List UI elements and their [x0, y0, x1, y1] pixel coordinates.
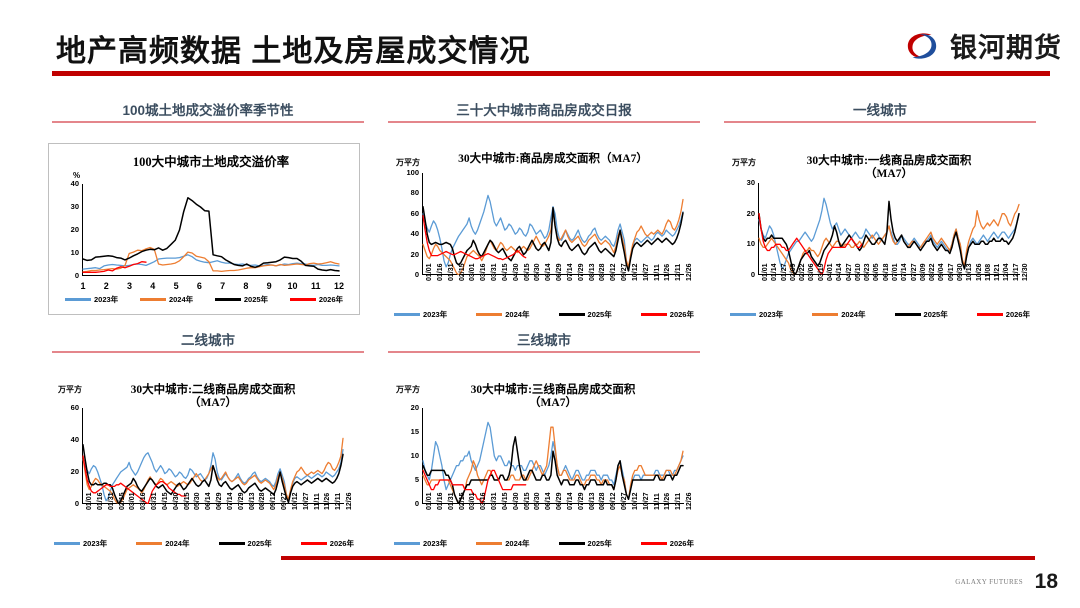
legend-item-2023年[interactable]: 2023年: [730, 309, 783, 320]
chart-title: 30大中城市:三线商品房成交面积（MA7）: [422, 384, 684, 410]
x-axis-tick: 04/15: [162, 492, 169, 510]
x-axis-tick: 11/11: [314, 493, 321, 510]
x-axis-tick: 12/26: [686, 263, 693, 281]
legend-item-2024年[interactable]: 2024年: [812, 309, 865, 320]
legend-label: 2025年: [588, 538, 612, 549]
brand-logo: 银河期货: [903, 26, 1062, 65]
x-axis-tick: 01/01: [426, 263, 433, 281]
x-axis-tick: 09/17: [948, 263, 955, 281]
x-axis-tick: 10/26: [976, 263, 983, 281]
x-axis-tick: 03/16: [140, 492, 147, 510]
legend-label: 2025年: [588, 309, 612, 320]
footer-divider: [281, 556, 1035, 560]
legend-label: 2024年: [505, 538, 529, 549]
legend-label: 2026年: [670, 309, 694, 320]
x-axis-tick: 01/27: [781, 263, 788, 281]
y-axis-tick: 100: [397, 169, 419, 177]
x-axis-tick: 3: [123, 282, 137, 291]
series-line-2024年: [83, 248, 339, 272]
chart-title: 30大中城市:一线商品房成交面积（MA7）: [758, 155, 1020, 181]
y-axis-tick: 20: [59, 226, 79, 234]
x-axis-tick: 08/13: [249, 492, 256, 510]
y-axis-tick: 20: [397, 251, 419, 259]
legend-color-swatch: [219, 542, 245, 545]
x-axis-tick: 03/01: [469, 492, 476, 510]
x-axis-tick: 11: [309, 282, 323, 291]
x-axis-tick: 02/22: [799, 263, 806, 281]
x-axis-tick: 12/26: [346, 492, 353, 510]
x-axis-tick: 03/16: [480, 492, 487, 510]
x-axis-tick: 06/05: [873, 263, 880, 281]
y-axis-tick: 0: [59, 272, 79, 280]
legend-item-2024年[interactable]: 2024年: [476, 309, 529, 320]
plot-area: [422, 173, 684, 275]
section-header-rule: [388, 121, 700, 123]
x-axis-tick: 09/27: [621, 492, 628, 510]
legend-color-swatch: [290, 298, 316, 301]
legend-item-2023年[interactable]: 2023年: [394, 309, 447, 320]
y-axis-tick: 40: [397, 230, 419, 238]
legend-label: 2023年: [94, 294, 118, 305]
x-axis-tick: 03/06: [808, 263, 815, 281]
x-axis-tick: 12: [332, 282, 346, 291]
legend-label: 2026年: [330, 538, 354, 549]
chart-legend: 2023年2024年2025年2026年: [65, 294, 343, 305]
x-axis-tick: 06/29: [556, 263, 563, 281]
x-axis-tick: 01/16: [97, 492, 104, 510]
x-axis-tick: 10/12: [292, 492, 299, 510]
x-axis-tick: 10/13: [966, 263, 973, 281]
legend-item-2026年[interactable]: 2026年: [977, 309, 1030, 320]
legend-item-2025年[interactable]: 2025年: [219, 538, 272, 549]
x-axis-tick: 05/15: [524, 492, 531, 510]
x-axis-tick: 07/29: [578, 492, 585, 510]
page-number: 18: [1035, 570, 1058, 594]
legend-color-swatch: [476, 313, 502, 315]
y-axis-tick: 5: [397, 476, 419, 484]
legend-item-2023年[interactable]: 2023年: [54, 538, 107, 549]
series-line-2026年: [423, 216, 526, 260]
x-axis-tick: 08/28: [259, 492, 266, 510]
x-axis-tick: 07/29: [578, 263, 585, 281]
chart-title: 100大中城市土地成交溢价率: [82, 156, 340, 169]
x-axis-tick: 09/27: [281, 492, 288, 510]
x-axis-tick: 7: [216, 282, 230, 291]
legend-color-swatch: [54, 542, 80, 544]
x-axis-tick: 07/14: [901, 263, 908, 281]
legend-color-swatch: [895, 313, 921, 316]
y-axis-tick: 40: [59, 180, 79, 188]
x-axis-tick: 03/31: [491, 492, 498, 510]
legend-label: 2025年: [244, 294, 268, 305]
legend-color-swatch: [136, 542, 162, 544]
x-axis-tick: 11/08: [985, 264, 992, 281]
x-axis-tick: 11/21: [994, 264, 1001, 281]
y-axis-tick: 0: [733, 271, 755, 279]
x-axis-tick: 07/14: [567, 492, 574, 510]
x-axis-tick: 08/09: [920, 263, 927, 281]
legend-item-2025年[interactable]: 2025年: [215, 294, 268, 305]
x-axis-tick: 12/11: [675, 493, 682, 510]
legend-item-2025年[interactable]: 2025年: [559, 538, 612, 549]
x-axis-tick: 09/27: [621, 263, 628, 281]
x-axis-tick: 01/31: [448, 492, 455, 510]
x-axis-tick: 11/26: [664, 264, 671, 281]
x-axis-tick: 08/22: [929, 263, 936, 281]
section-header-label: 一线城市: [724, 103, 1036, 118]
x-axis-tick: 04/15: [502, 263, 509, 281]
section-header-rule: [724, 121, 1036, 123]
x-axis-tick: 01/01: [426, 492, 433, 510]
y-axis-tick: 15: [397, 428, 419, 436]
chart-legend: 2023年2024年2025年2026年: [394, 538, 694, 549]
x-axis-tick: 07/14: [567, 263, 574, 281]
x-axis-tick: 04/27: [846, 263, 853, 281]
legend-color-swatch: [140, 298, 166, 300]
x-axis-tick: 01/31: [448, 263, 455, 281]
x-axis-tick: 05/23: [864, 263, 871, 281]
x-axis-tick: 08/28: [599, 492, 606, 510]
series-line-2025年: [83, 198, 339, 271]
legend-color-swatch: [730, 313, 756, 315]
chart-panel-second-tier-cities: 30大中城市:二线商品房成交面积（MA7）万平方020406001/0101/1…: [48, 372, 360, 552]
chart-legend: 2023年2024年2025年2026年: [394, 309, 694, 320]
chart-legend: 2023年2024年2025年2026年: [730, 309, 1030, 320]
legend-item-2025年[interactable]: 2025年: [895, 309, 948, 320]
y-axis-tick: 0: [397, 500, 419, 508]
x-axis-tick: 02/09: [790, 263, 797, 281]
x-axis-tick: 09/30: [957, 263, 964, 281]
x-axis-tick: 05/30: [194, 492, 201, 510]
x-axis-tick: 05/15: [184, 492, 191, 510]
x-axis-tick: 10/12: [632, 492, 639, 510]
x-axis-tick: 05/10: [855, 263, 862, 281]
x-axis-tick: 08/13: [589, 263, 596, 281]
x-axis-tick: 09/12: [270, 492, 277, 510]
x-axis-tick: 03/01: [129, 492, 136, 510]
x-axis-tick: 12/11: [335, 493, 342, 510]
plot-area: [422, 408, 684, 504]
legend-label: 2025年: [248, 538, 272, 549]
x-axis-tick: 09/12: [610, 492, 617, 510]
x-axis-tick: 10/27: [643, 263, 650, 281]
chart-unit-label: 万平方: [396, 157, 420, 168]
x-axis-tick: 03/01: [469, 263, 476, 281]
y-axis-tick: 20: [57, 468, 79, 476]
plot-area: [758, 183, 1020, 275]
x-axis-tick: 02/15: [119, 492, 126, 510]
section-header-thirty-cities: 三十大中城市商品房成交日报: [388, 103, 700, 123]
x-axis-tick: 01/31: [108, 492, 115, 510]
x-axis-tick: 06/14: [545, 492, 552, 510]
page-title: 地产高频数据 土地及房屋成交情况: [56, 26, 530, 70]
section-header-label: 二线城市: [52, 333, 364, 348]
legend-label: 2023年: [423, 538, 447, 549]
x-axis-tick: 10/27: [303, 492, 310, 510]
chart-unit-label: 万平方: [732, 157, 756, 168]
section-header-label: 100城土地成交溢价率季节性: [52, 103, 364, 118]
legend-item-2024年[interactable]: 2024年: [476, 538, 529, 549]
x-axis-tick: 12/17: [1013, 263, 1020, 281]
x-axis-tick: 08/28: [599, 263, 606, 281]
x-axis-tick: 8: [239, 282, 253, 291]
x-axis-tick: 03/19: [818, 263, 825, 281]
y-axis-tick: 10: [397, 452, 419, 460]
legend-label: 2026年: [1006, 309, 1030, 320]
x-axis-tick: 11/11: [654, 493, 661, 510]
x-axis-tick: 12/04: [1003, 263, 1010, 281]
legend-color-swatch: [476, 542, 502, 544]
x-axis-tick: 01/01: [762, 263, 769, 281]
section-header-premium-rate: 100城土地成交溢价率季节性: [52, 103, 364, 123]
x-axis-tick: 03/31: [151, 492, 158, 510]
legend-label: 2026年: [319, 294, 343, 305]
x-axis-tick: 07/29: [238, 492, 245, 510]
x-axis-tick: 12/26: [686, 492, 693, 510]
x-axis-tick: 06/14: [545, 263, 552, 281]
x-axis-tick: 2: [99, 282, 113, 291]
y-axis-tick: 40: [57, 436, 79, 444]
legend-label: 2023年: [83, 538, 107, 549]
chart-unit-label: 万平方: [58, 384, 82, 395]
series-line-2023年: [423, 422, 683, 499]
legend-item-2024年[interactable]: 2024年: [136, 538, 189, 549]
x-axis-tick: 06/18: [883, 263, 890, 281]
y-axis-tick: 80: [397, 189, 419, 197]
x-axis-tick: 6: [192, 282, 206, 291]
legend-label: 2024年: [505, 309, 529, 320]
x-axis-tick: 10/27: [643, 492, 650, 510]
chart-panel-thirty-cities-total: 30大中城市:商品房成交面积（MA7）万平方02040608010001/010…: [388, 143, 700, 323]
legend-color-swatch: [641, 542, 667, 545]
section-header-label: 三线城市: [388, 333, 700, 348]
legend-color-swatch: [394, 313, 420, 315]
legend-color-swatch: [559, 313, 585, 316]
plot-area: [82, 408, 344, 504]
legend-label: 2026年: [670, 538, 694, 549]
y-axis-tick: 0: [57, 500, 79, 508]
x-axis-tick: 02/15: [459, 263, 466, 281]
section-header-rule: [388, 351, 700, 353]
x-axis-tick: 09/04: [938, 263, 945, 281]
x-axis-tick: 09/12: [610, 263, 617, 281]
chart-panel-third-tier-cities: 30大中城市:三线商品房成交面积（MA7）万平方0510152001/0101/…: [388, 372, 700, 552]
x-axis-tick: 12/30: [1022, 263, 1029, 281]
chart-legend: 2023年2024年2025年2026年: [54, 538, 354, 549]
chart-unit-label: 万平方: [396, 384, 420, 395]
legend-color-swatch: [559, 542, 585, 545]
x-axis-tick: 02/15: [459, 492, 466, 510]
plot-area: [82, 184, 340, 276]
x-axis-tick: 12/11: [675, 264, 682, 281]
section-header-third-tier: 三线城市: [388, 333, 700, 353]
legend-item-2026年[interactable]: 2026年: [641, 538, 694, 549]
section-header-second-tier: 二线城市: [52, 333, 364, 353]
chart-title: 30大中城市:二线商品房成交面积（MA7）: [82, 384, 344, 410]
y-axis-tick: 0: [397, 271, 419, 279]
legend-item-2025年[interactable]: 2025年: [559, 309, 612, 320]
section-header-label: 三十大中城市商品房成交日报: [388, 103, 700, 118]
x-axis-tick: 04/15: [502, 492, 509, 510]
legend-color-swatch: [215, 298, 241, 301]
x-axis-tick: 03/16: [480, 263, 487, 281]
galaxy-swirl-logo-icon: [903, 29, 941, 63]
legend-color-swatch: [812, 313, 838, 315]
x-axis-tick: 1: [76, 282, 90, 291]
footer-brand: GALAXY FUTURES: [955, 578, 1023, 586]
x-axis-tick: 11/11: [654, 264, 661, 281]
legend-item-2026年[interactable]: 2026年: [641, 309, 694, 320]
section-header-first-tier: 一线城市: [724, 103, 1036, 123]
section-header-rule: [52, 121, 364, 123]
x-axis-tick: 07/01: [892, 263, 899, 281]
title-divider: [52, 71, 1050, 76]
y-axis-tick: 30: [733, 179, 755, 187]
legend-color-swatch: [977, 313, 1003, 316]
x-axis-tick: 04/01: [827, 263, 834, 281]
legend-label: 2024年: [169, 294, 193, 305]
x-axis-tick: 10/12: [632, 263, 639, 281]
chart-title-line2: （MA7）: [758, 168, 1020, 181]
x-axis-tick: 05/30: [534, 492, 541, 510]
x-axis-tick: 5: [169, 282, 183, 291]
x-axis-tick: 05/30: [534, 263, 541, 281]
legend-color-swatch: [301, 542, 327, 545]
x-axis-tick: 01/01: [86, 492, 93, 510]
chart-panel-premium-rate-seasonality: 100大中城市土地成交溢价率%0102030401234567891011122…: [48, 143, 360, 315]
x-axis-tick: 04/14: [836, 263, 843, 281]
legend-label: 2024年: [165, 538, 189, 549]
legend-item-2026年[interactable]: 2026年: [290, 294, 343, 305]
y-axis-tick: 30: [59, 203, 79, 211]
x-axis-tick: 9: [262, 282, 276, 291]
x-axis-tick: 04/30: [513, 492, 520, 510]
chart-title: 30大中城市:商品房成交面积（MA7）: [422, 153, 684, 166]
legend-color-swatch: [394, 542, 420, 544]
y-axis-tick: 10: [733, 240, 755, 248]
legend-color-swatch: [641, 313, 667, 316]
x-axis-tick: 03/31: [491, 263, 498, 281]
x-axis-tick: 11/26: [664, 493, 671, 510]
legend-label: 2024年: [841, 309, 865, 320]
legend-item-2023年[interactable]: 2023年: [394, 538, 447, 549]
legend-item-2024年[interactable]: 2024年: [140, 294, 193, 305]
legend-label: 2023年: [423, 309, 447, 320]
chart-panel-first-tier-cities: 30大中城市:一线商品房成交面积（MA7）万平方010203001/0101/1…: [724, 143, 1036, 323]
x-axis-tick: 11/26: [324, 493, 331, 510]
x-axis-tick: 04/30: [173, 492, 180, 510]
y-axis-tick: 20: [397, 404, 419, 412]
x-axis-tick: 4: [146, 282, 160, 291]
legend-label: 2025年: [924, 309, 948, 320]
x-axis-tick: 01/16: [437, 492, 444, 510]
x-axis-tick: 06/14: [205, 492, 212, 510]
section-header-rule: [52, 351, 364, 353]
x-axis-tick: 01/16: [437, 263, 444, 281]
legend-color-swatch: [65, 298, 91, 300]
y-axis-tick: 60: [57, 404, 79, 412]
x-axis-tick: 01/14: [771, 263, 778, 281]
x-axis-tick: 04/30: [513, 263, 520, 281]
legend-item-2026年[interactable]: 2026年: [301, 538, 354, 549]
x-axis-tick: 07/14: [227, 492, 234, 510]
legend-item-2023年[interactable]: 2023年: [65, 294, 118, 305]
brand-name: 银河期货: [950, 26, 1062, 65]
x-axis-tick: 05/15: [524, 263, 531, 281]
y-axis-tick: 60: [397, 210, 419, 218]
x-axis-tick: 10: [285, 282, 299, 291]
legend-label: 2023年: [759, 309, 783, 320]
x-axis-tick: 07/27: [911, 263, 918, 281]
x-axis-tick: 06/29: [556, 492, 563, 510]
y-axis-tick: 20: [733, 210, 755, 218]
x-axis-tick: 08/13: [589, 492, 596, 510]
y-axis-tick: 10: [59, 249, 79, 257]
x-axis-tick: 06/29: [216, 492, 223, 510]
